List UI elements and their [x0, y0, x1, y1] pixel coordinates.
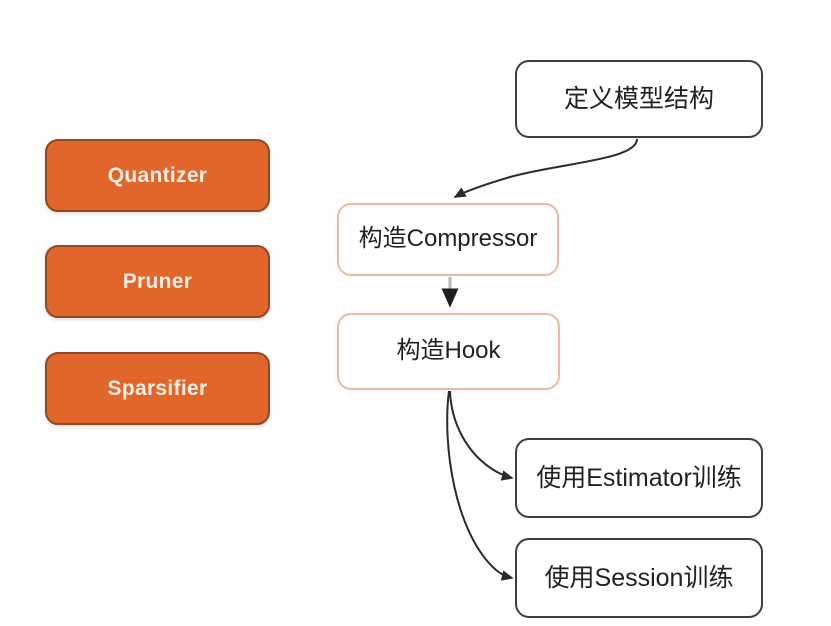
edge-hook-to-estimator [450, 391, 512, 478]
node-build-hook-label: 构造Hook [396, 337, 500, 366]
edge-define-to-compressor [455, 139, 637, 197]
node-quantizer[interactable]: Quantizer [45, 139, 270, 212]
node-train-estimator-label: 使用Estimator训练 [536, 463, 742, 493]
node-sparsifier-label: Sparsifier [108, 376, 208, 401]
diagram-canvas: Quantizer Pruner Sparsifier 定义模型结构 构造Com… [0, 0, 831, 626]
node-build-compressor[interactable]: 构造Compressor [337, 203, 559, 276]
node-sparsifier[interactable]: Sparsifier [45, 352, 270, 425]
node-train-session-label: 使用Session训练 [545, 563, 734, 593]
node-pruner-label: Pruner [123, 269, 193, 294]
node-build-hook[interactable]: 构造Hook [337, 313, 560, 390]
node-pruner[interactable]: Pruner [45, 245, 270, 318]
node-define-model[interactable]: 定义模型结构 [515, 60, 763, 138]
node-define-model-label: 定义模型结构 [564, 84, 714, 114]
node-train-session[interactable]: 使用Session训练 [515, 538, 763, 618]
edge-hook-to-session [447, 391, 512, 578]
node-quantizer-label: Quantizer [108, 163, 208, 188]
node-build-compressor-label: 构造Compressor [359, 225, 538, 254]
node-train-estimator[interactable]: 使用Estimator训练 [515, 438, 763, 518]
